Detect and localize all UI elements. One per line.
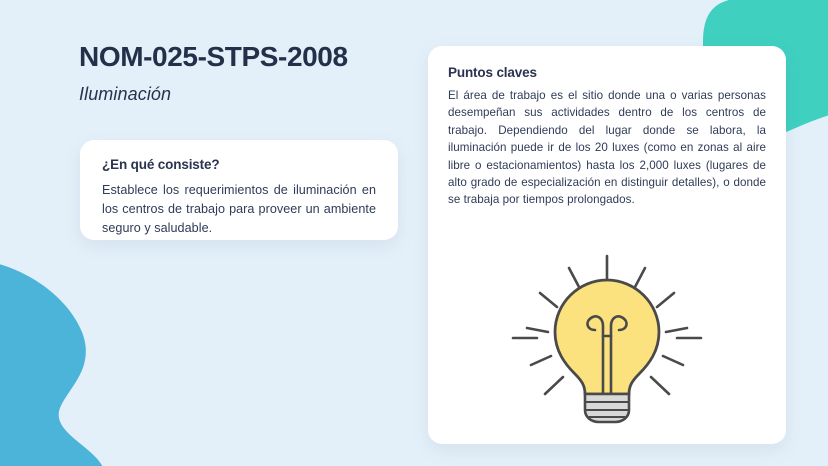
card-left-heading: ¿En qué consiste?	[102, 156, 376, 173]
card-right-body: El área de trabajo es el sitio donde una…	[448, 87, 766, 209]
bulb-base	[585, 394, 629, 422]
card-right-content: Puntos claves El área de trabajo es el s…	[428, 46, 786, 209]
card-left-content: ¿En qué consiste? Establece los requerim…	[80, 140, 398, 238]
page-subtitle: Iluminación	[79, 83, 348, 105]
card-right-heading: Puntos claves	[448, 64, 766, 81]
card-en-que-consiste: ¿En qué consiste? Establece los requerim…	[80, 140, 398, 240]
card-puntos-claves: Puntos claves El área de trabajo es el s…	[428, 46, 786, 444]
page-title: NOM-025-STPS-2008	[79, 40, 348, 74]
heading-block: NOM-025-STPS-2008 Iluminación	[79, 40, 348, 105]
card-left-body: Establece los requerimientos de iluminac…	[102, 181, 376, 238]
blue-blob-decoration	[0, 258, 170, 466]
slide-canvas: NOM-025-STPS-2008 Iluminación ¿En qué co…	[0, 0, 828, 466]
illustration-area	[428, 252, 786, 427]
light-bulb-icon	[507, 252, 707, 427]
